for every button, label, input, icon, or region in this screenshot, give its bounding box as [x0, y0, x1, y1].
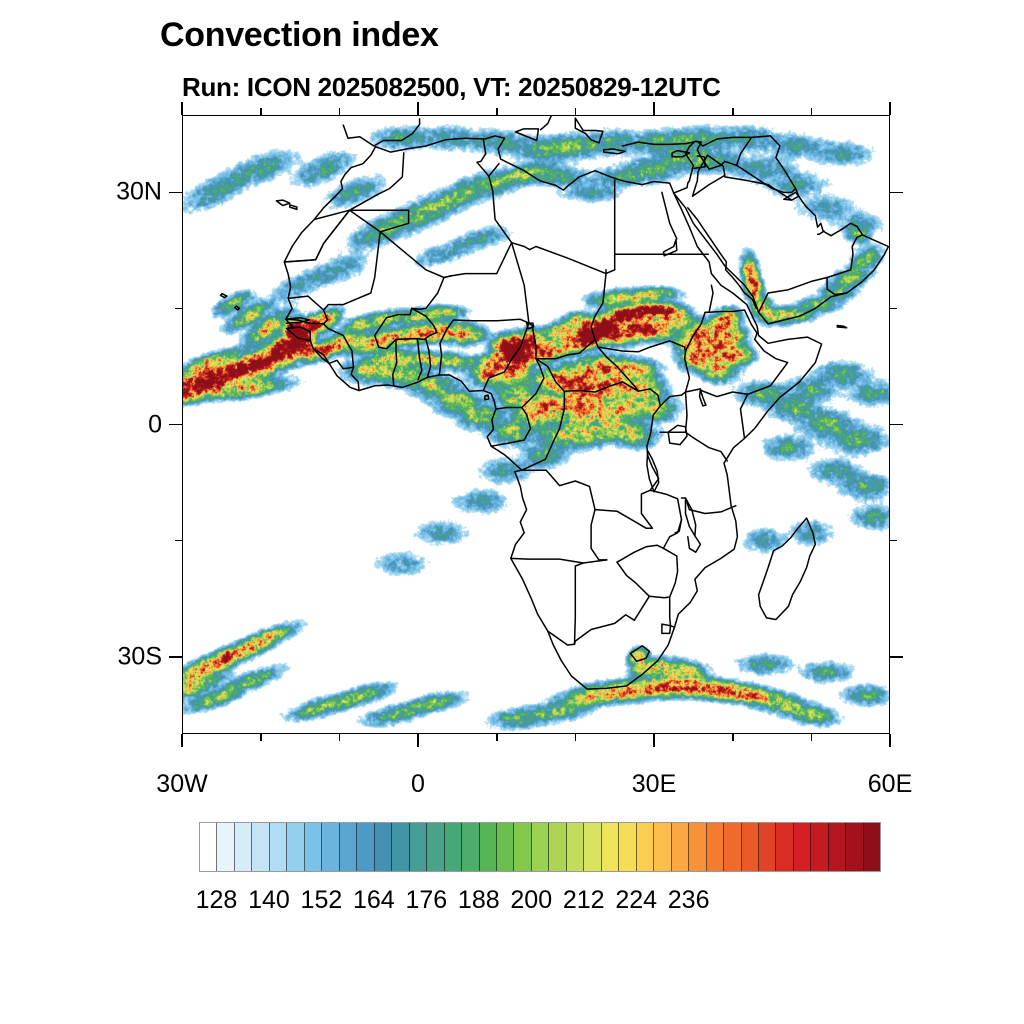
colorbar-cell: [340, 823, 357, 871]
colorbar-cell: [602, 823, 619, 871]
colorbar-cell: [794, 823, 811, 871]
x-axis-tick-top: [339, 108, 341, 115]
colorbar-cell: [480, 823, 497, 871]
colorbar-cell: [829, 823, 846, 871]
colorbar-cell: [654, 823, 671, 871]
colorbar-tick-164: 164: [353, 886, 395, 915]
colorbar-cell: [322, 823, 339, 871]
y-axis-tick-right: [890, 540, 897, 542]
y-axis-tick: [169, 424, 182, 426]
colorbar-tick-140: 140: [248, 886, 290, 915]
colorbar[interactable]: [199, 822, 881, 872]
y-axis-tick-right: [890, 308, 897, 310]
colorbar-tick-128: 128: [196, 886, 238, 915]
colorbar-cell: [811, 823, 828, 871]
y-axis-tick-right: [890, 424, 903, 426]
x-axis-tick-top: [811, 108, 813, 115]
x-axis-label-30e: 30E: [632, 770, 676, 799]
run-valid-time-subtitle: Run: ICON 2025082500, VT: 20250829-12UTC: [182, 72, 721, 103]
colorbar-cell: [410, 823, 427, 871]
colorbar-tick-188: 188: [458, 886, 500, 915]
x-axis-tick-top: [260, 108, 262, 115]
colorbar-cell: [724, 823, 741, 871]
colorbar-cell: [357, 823, 374, 871]
colorbar-cell: [235, 823, 252, 871]
colorbar-cell: [252, 823, 269, 871]
x-axis-tick: [889, 734, 891, 747]
colorbar-cell: [672, 823, 689, 871]
map-plot-area[interactable]: [182, 115, 890, 734]
colorbar-cell: [689, 823, 706, 871]
page-title: Convection index: [160, 16, 439, 55]
x-axis-tick-top: [653, 102, 655, 115]
colorbar-tick-176: 176: [405, 886, 447, 915]
y-axis-tick: [169, 192, 182, 194]
colorbar-cell: [462, 823, 479, 871]
y-axis-tick: [175, 540, 182, 542]
colorbar-cell: [742, 823, 759, 871]
colorbar-cell: [200, 823, 217, 871]
colorbar-cell: [305, 823, 322, 871]
colorbar-cell: [707, 823, 724, 871]
y-axis-tick-right: [890, 656, 903, 658]
x-axis-tick: [496, 734, 498, 741]
y-axis-label-30s: 30S: [118, 642, 162, 671]
x-axis-tick: [653, 734, 655, 747]
colorbar-cell: [270, 823, 287, 871]
y-axis-label-30n: 30N: [116, 178, 162, 207]
colorbar-cell: [637, 823, 654, 871]
x-axis-tick: [811, 734, 813, 741]
colorbar-cell: [759, 823, 776, 871]
y-axis-label-0: 0: [148, 410, 162, 439]
colorbar-cell: [514, 823, 531, 871]
x-axis-tick-top: [496, 108, 498, 115]
colorbar-cell: [532, 823, 549, 871]
colorbar-cell: [864, 823, 880, 871]
x-axis-label-0: 0: [411, 770, 425, 799]
colorbar-cell: [217, 823, 234, 871]
x-axis-tick: [260, 734, 262, 741]
x-axis-label-30w: 30W: [156, 770, 207, 799]
colorbar-cell: [392, 823, 409, 871]
x-axis-tick: [732, 734, 734, 741]
colorbar-cell: [567, 823, 584, 871]
x-axis-tick: [575, 734, 577, 741]
colorbar-cell: [584, 823, 601, 871]
colorbar-tick-152: 152: [301, 886, 343, 915]
convection-index-field: [182, 115, 890, 734]
colorbar-tick-200: 200: [510, 886, 552, 915]
y-axis-tick: [175, 308, 182, 310]
colorbar-cell: [497, 823, 514, 871]
colorbar-cell: [619, 823, 636, 871]
x-axis-label-60e: 60E: [868, 770, 912, 799]
x-axis-tick-top: [181, 102, 183, 115]
colorbar-cell: [445, 823, 462, 871]
colorbar-cell: [375, 823, 392, 871]
y-axis-tick: [169, 656, 182, 658]
colorbar-tick-224: 224: [615, 886, 657, 915]
colorbar-tick-212: 212: [563, 886, 605, 915]
x-axis-tick-top: [575, 108, 577, 115]
colorbar-tick-236: 236: [668, 886, 710, 915]
x-axis-tick: [339, 734, 341, 741]
x-axis-tick: [417, 734, 419, 747]
colorbar-cell: [549, 823, 566, 871]
colorbar-cell: [776, 823, 793, 871]
colorbar-cell: [427, 823, 444, 871]
x-axis-tick: [181, 734, 183, 747]
y-axis-tick-right: [890, 192, 903, 194]
x-axis-tick-top: [889, 102, 891, 115]
colorbar-cell: [846, 823, 863, 871]
x-axis-tick-top: [732, 108, 734, 115]
figure-canvas: Convection index Run: ICON 2025082500, V…: [0, 0, 1024, 1024]
x-axis-tick-top: [417, 102, 419, 115]
colorbar-cell: [287, 823, 304, 871]
